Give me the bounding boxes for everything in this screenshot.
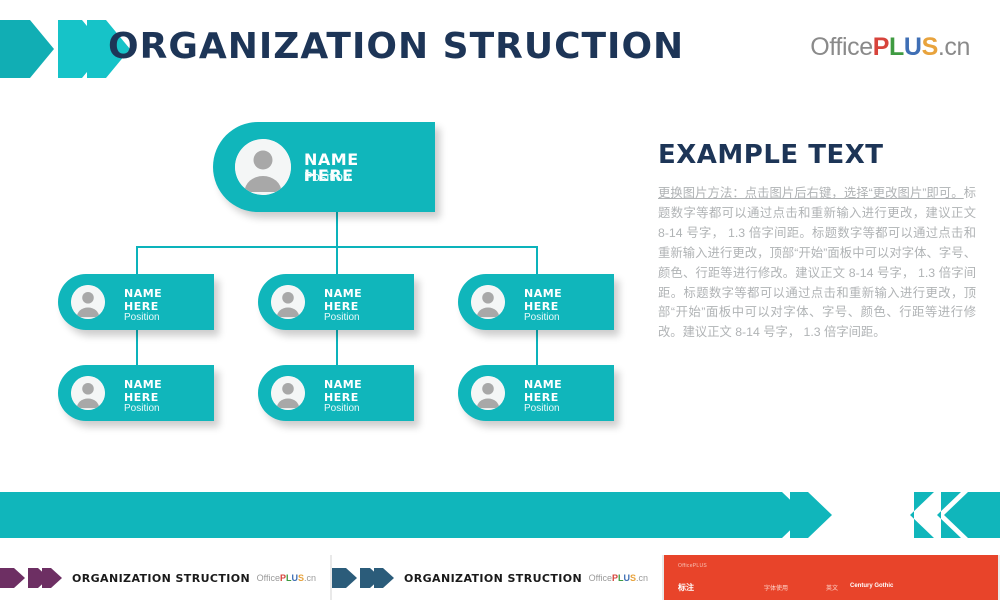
- avatar: [471, 285, 505, 319]
- org-node-position: Position: [524, 313, 562, 323]
- thumb-logo-cn: .cn: [636, 573, 648, 583]
- person-icon: [471, 376, 505, 410]
- connector-drop-col3: [536, 246, 538, 274]
- org-node-4[interactable]: NAME HERE Position: [58, 365, 214, 421]
- org-node-text: NAME HERE Position: [324, 288, 362, 323]
- example-text-title: EXAMPLE TEXT: [658, 140, 976, 170]
- org-node-1[interactable]: NAME HERE Position: [58, 274, 214, 330]
- bottom-banner: [0, 492, 1000, 538]
- org-node-name-line2: HERE: [324, 301, 362, 312]
- person-icon: [271, 285, 305, 319]
- thumb-logo-office: Office: [589, 573, 612, 583]
- org-node-text: NAME HERE Position: [524, 288, 562, 323]
- person-icon: [471, 285, 505, 319]
- connector-row2-row3-col2: [336, 330, 338, 365]
- org-node-root[interactable]: NAME HERE Position: [213, 122, 435, 212]
- person-icon: [71, 376, 105, 410]
- example-body-text: 更换图片方法：点击图片后右键，选择“更改图片”即可。标题数字等都可以通过点击和重…: [658, 184, 976, 343]
- connector-row2-row3-col3: [536, 330, 538, 365]
- logo-office: Office: [810, 33, 872, 61]
- avatar: [471, 376, 505, 410]
- org-node-6[interactable]: NAME HERE Position: [458, 365, 614, 421]
- org-node-name-line1: NAME: [124, 379, 162, 390]
- connector-drop-col2: [336, 246, 338, 274]
- org-node-position: Position: [124, 313, 162, 323]
- slide-canvas: ORGANIZATION STRUCTION OfficePLUS.cn NAM…: [0, 0, 1000, 555]
- example-text-panel: EXAMPLE TEXT 更换图片方法：点击图片后右键，选择“更改图片”即可。标…: [658, 140, 976, 343]
- thumb-chevron-icon: [332, 568, 394, 588]
- connector-drop-col1: [136, 246, 138, 274]
- org-node-position: Position: [324, 313, 362, 323]
- avatar: [71, 285, 105, 319]
- thumbnail-slide-2[interactable]: ORGANIZATION STRUCTION OfficePLUS.cn: [332, 555, 664, 600]
- officeplus-logo: OfficePLUS.cn: [810, 33, 970, 62]
- red-thumb-col3: 英文: [826, 583, 838, 592]
- connector-root-vertical: [336, 212, 338, 247]
- org-node-position: Position: [524, 404, 562, 414]
- example-body-underlined: 更换图片方法：点击图片后右键，选择“更改图片”即可。: [658, 186, 964, 200]
- org-node-name-line1: NAME: [124, 288, 162, 299]
- org-chart: NAME HERE Position NAME HERE Position NA…: [0, 0, 650, 470]
- person-icon: [271, 376, 305, 410]
- connector-row2-row3-col1: [136, 330, 138, 365]
- person-icon: [71, 285, 105, 319]
- org-node-name-line1: NAME: [524, 288, 562, 299]
- thumb-chevron-icon: [0, 568, 62, 588]
- org-node-name-line2: HERE: [324, 392, 362, 403]
- avatar: [71, 376, 105, 410]
- red-thumb-brand: OfficePLUS: [678, 563, 707, 569]
- slide-thumbnail-strip[interactable]: ORGANIZATION STRUCTION OfficePLUS.cn ORG…: [0, 555, 1000, 600]
- thumb-officeplus-logo: OfficePLUS.cn: [589, 573, 648, 583]
- thumb-title: ORGANIZATION STRUCTION: [404, 572, 582, 585]
- org-node-text: NAME HERE Position: [124, 379, 162, 414]
- org-node-name-line2: HERE: [524, 392, 562, 403]
- thumb-logo-office: Office: [257, 573, 280, 583]
- red-thumb-label: 标注: [678, 582, 694, 593]
- example-body-rest: 标题数字等都可以通过点击和重新输入进行更改，建议正文 8-14 号字， 1.3 …: [658, 186, 976, 339]
- thumbnail-slide-3[interactable]: OfficePLUS 标注 字体使用 英文 Century Gothic: [664, 555, 998, 600]
- thumb-logo-cn: .cn: [304, 573, 316, 583]
- thumb-title: ORGANIZATION STRUCTION: [72, 572, 250, 585]
- org-node-2[interactable]: NAME HERE Position: [258, 274, 414, 330]
- org-node-text: NAME HERE Position: [124, 288, 162, 323]
- org-node-name-line2: HERE: [124, 301, 162, 312]
- avatar: [271, 285, 305, 319]
- org-node-text: NAME HERE Position: [524, 379, 562, 414]
- org-node-5[interactable]: NAME HERE Position: [258, 365, 414, 421]
- org-node-name-line2: HERE: [524, 301, 562, 312]
- thumbnail-slide-1[interactable]: ORGANIZATION STRUCTION OfficePLUS.cn: [0, 555, 332, 600]
- org-node-text: NAME HERE Position: [324, 379, 362, 414]
- logo-cn: .cn: [938, 33, 970, 61]
- avatar: [271, 376, 305, 410]
- logo-s: S: [922, 33, 938, 61]
- org-node-name-line1: NAME: [324, 288, 362, 299]
- org-node-name-line1: NAME: [324, 379, 362, 390]
- red-thumb-col4: Century Gothic: [850, 583, 893, 589]
- logo-p: P: [873, 33, 889, 61]
- org-node-position: Position: [124, 404, 162, 414]
- org-node-name-line2: HERE: [124, 392, 162, 403]
- org-node-position: Position: [324, 404, 362, 414]
- org-node-text: NAME HERE Position: [304, 152, 359, 183]
- avatar: [235, 139, 291, 195]
- logo-u: U: [904, 33, 922, 61]
- org-node-3[interactable]: NAME HERE Position: [458, 274, 614, 330]
- thumb-officeplus-logo: OfficePLUS.cn: [257, 573, 316, 583]
- logo-l: L: [889, 33, 904, 61]
- person-icon: [235, 139, 291, 195]
- red-thumb-col2: 字体使用: [764, 583, 788, 592]
- org-node-name-line1: NAME: [524, 379, 562, 390]
